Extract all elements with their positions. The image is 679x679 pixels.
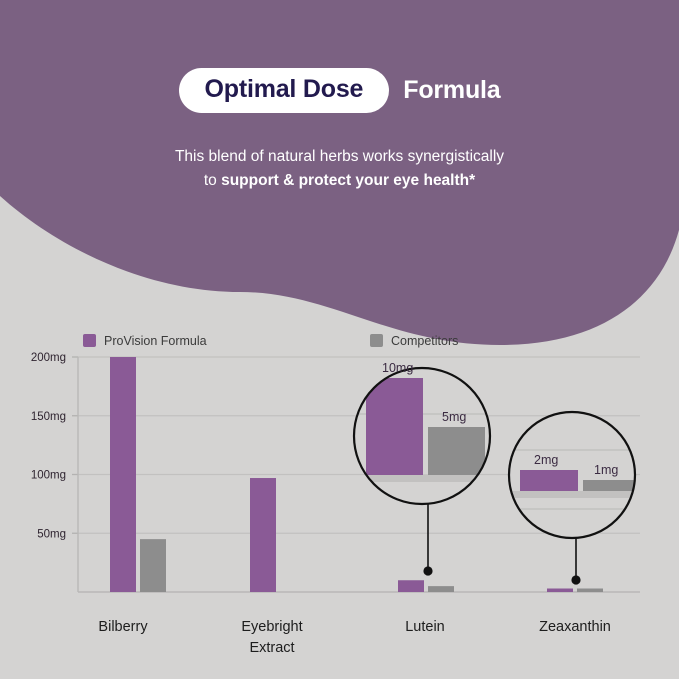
leader-dot-lutein: [423, 566, 432, 575]
bar-zeaxanthin-provision: [547, 589, 573, 593]
y-tick-label: 50mg: [37, 528, 66, 540]
legend-swatch-provision: [83, 334, 96, 347]
subtitle: This blend of natural herbs works synerg…: [60, 145, 620, 193]
bar-chart: ProVision Formula Competitors 200mg150mg…: [0, 318, 679, 679]
subtitle-line-2-bold: support & protect your eye health*: [221, 172, 475, 189]
bar-lutein-provision: [398, 580, 424, 592]
chart-legend: ProVision Formula Competitors: [83, 334, 458, 348]
magnifier-zeaxanthin-provision-bar: [520, 470, 578, 491]
optimal-dose-pill: Optimal Dose: [179, 68, 390, 113]
header-content: Optimal Dose Formula This blend of natur…: [0, 0, 679, 230]
magnifier-zeaxanthin: 2mg 1mg: [508, 412, 641, 538]
magnifier-lutein: 10mg 5mg: [352, 361, 492, 504]
bar-bilberry-competitor: [140, 539, 166, 592]
legend-label-competitors: Competitors: [391, 334, 458, 348]
leader-dot-zeaxanthin: [571, 575, 580, 584]
subtitle-line-1: This blend of natural herbs works synerg…: [60, 145, 620, 169]
title-row: Optimal Dose Formula: [179, 68, 501, 113]
category-label-eyebright-extract: Eyebright: [241, 619, 302, 635]
magnifier-zeaxanthin-provision-label: 2mg: [534, 453, 558, 467]
magnifier-lutein-provision-label: 10mg: [382, 361, 413, 375]
legend-label-provision: ProVision Formula: [104, 334, 207, 348]
magnifier-lutein-competitor-bar: [428, 427, 485, 475]
magnifier-lutein-provision-bar: [366, 378, 423, 475]
bar-lutein-competitor: [428, 586, 454, 592]
category-label-eyebright-extract: Extract: [249, 640, 294, 656]
magnifier-zeaxanthin-competitor-label: 1mg: [594, 463, 618, 477]
y-tick-label: 150mg: [31, 411, 66, 423]
category-label-lutein: Lutein: [405, 619, 445, 635]
chart-svg: ProVision Formula Competitors 200mg150mg…: [0, 318, 679, 679]
optimal-dose-label: Optimal Dose: [205, 77, 364, 102]
category-labels: BilberryEyebrightExtractLuteinZeaxanthin: [98, 619, 610, 656]
y-tick-label: 100mg: [31, 470, 66, 482]
infographic-root: Optimal Dose Formula This blend of natur…: [0, 0, 679, 679]
y-tick-label: 200mg: [31, 352, 66, 364]
category-label-zeaxanthin: Zeaxanthin: [539, 619, 611, 635]
magnifier-lutein-competitor-label: 5mg: [442, 410, 466, 424]
bar-eyebright-extract-provision: [250, 478, 276, 592]
formula-label: Formula: [403, 76, 500, 105]
bar-bilberry-provision: [110, 357, 136, 592]
y-axis-ticks: 200mg150mg100mg50mg: [31, 352, 78, 540]
subtitle-line-2-prefix: to: [204, 172, 221, 189]
bar-zeaxanthin-competitor: [577, 589, 603, 593]
category-label-bilberry: Bilberry: [98, 619, 148, 635]
subtitle-line-2: to support & protect your eye health*: [60, 169, 620, 193]
legend-swatch-competitors: [370, 334, 383, 347]
